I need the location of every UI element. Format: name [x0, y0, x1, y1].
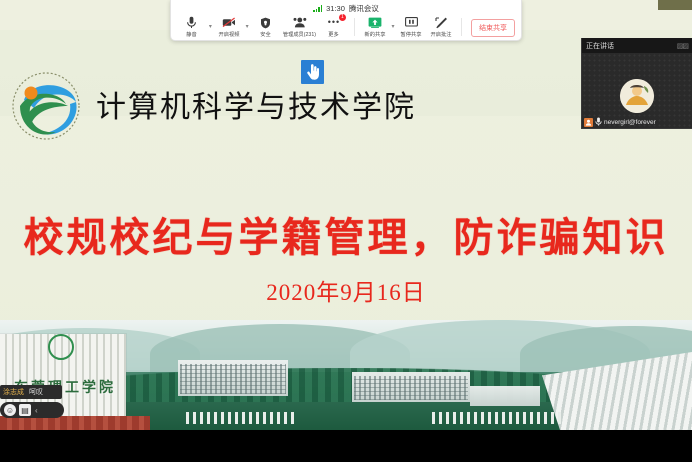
camera-off-icon	[222, 16, 236, 29]
annotation-overlay[interactable]: 涂志成 呵叹 ☺ ▤ ‹	[0, 385, 62, 418]
bottom-black-bar	[0, 430, 692, 462]
toolbar-label-more: 更多	[329, 30, 339, 38]
annotation-user-name: 涂志成	[3, 387, 24, 397]
annotate-pen-icon	[435, 16, 447, 29]
video-panel-body: nevergirl@forever	[582, 53, 692, 128]
collapse-chevron-icon[interactable]: ‹	[35, 406, 38, 415]
toolbar-label-new-share: 新的共享	[364, 30, 385, 38]
toolbar-label-members: 管理成员(231)	[283, 30, 316, 38]
toolbar-button-security[interactable]: 安全	[251, 16, 281, 38]
campus-photo: 东莞理工学院	[0, 320, 692, 430]
top-right-sliver	[658, 0, 692, 10]
chat-message-icon[interactable]: ▤	[19, 404, 31, 416]
microphone-icon	[186, 16, 197, 29]
toolbar-divider	[354, 18, 355, 36]
toolbar-divider	[461, 18, 462, 36]
microphone-icon	[595, 117, 602, 128]
toolbar-label-pause-share: 暂停共享	[401, 30, 422, 38]
screen-share-view: 计算机科学与技术学院 校规校纪与学籍管理，防诈骗知识 2020年9月16日	[0, 0, 692, 462]
speaking-status-label: 正在讲话	[586, 41, 614, 51]
toolbar-button-new-share[interactable]: 新的共享	[360, 16, 390, 38]
signal-bars-icon	[313, 5, 322, 12]
layout-toggle-icon[interactable]: ▨▨	[677, 42, 688, 50]
more-notification-badge: 1	[339, 14, 346, 21]
slide-date: 2020年9月16日	[0, 273, 692, 307]
campus-building-windows	[180, 364, 286, 394]
toolbar-label-video: 开启视频	[218, 30, 239, 38]
video-panel-header: 正在讲话 ▨▨	[582, 38, 692, 53]
toolbar-button-more[interactable]: ••• 1 更多	[319, 16, 349, 38]
shield-icon	[260, 16, 271, 29]
hand-pointer-icon	[301, 60, 324, 84]
gate-seal-icon	[48, 334, 74, 360]
department-title: 计算机科学与技术学院	[96, 82, 416, 126]
annotation-user-label: 涂志成 呵叹	[0, 385, 62, 399]
toolbar-button-members[interactable]: 管理成员(231)	[280, 16, 319, 38]
pause-share-icon	[405, 16, 418, 29]
toolbar-label-security: 安全	[260, 30, 270, 38]
video-panel-footer: nevergirl@forever	[582, 116, 692, 128]
meeting-toolbar[interactable]: 31:30 腾讯会议 静音 ▾ 开启视频 ▾	[170, 0, 522, 41]
chevron-down-icon-video[interactable]: ▾	[244, 23, 251, 30]
user-avatar-icon	[620, 79, 654, 113]
toolbar-label-annotate: 开启批注	[431, 30, 452, 38]
balustrade	[432, 412, 562, 424]
speaker-video-panel[interactable]: 正在讲话 ▨▨ nevergirl@foreve	[581, 38, 692, 129]
members-icon	[293, 16, 307, 29]
campus-building-windows	[354, 376, 468, 400]
meeting-app-name: 腾讯会议	[349, 3, 379, 14]
meeting-timer: 31:30	[326, 4, 345, 13]
emoji-icon[interactable]: ☺	[4, 404, 16, 416]
meeting-status-bar: 31:30 腾讯会议	[171, 0, 521, 15]
participant-name: nevergirl@forever	[604, 119, 656, 126]
campus-building	[470, 386, 540, 406]
college-leaf-logo	[10, 70, 88, 142]
toolbar-button-annotate[interactable]: 开启批注	[426, 16, 456, 38]
chevron-down-icon-mute[interactable]: ▾	[207, 23, 214, 30]
toolbar-button-pause-share[interactable]: 暂停共享	[397, 16, 427, 38]
toolbar-button-video[interactable]: 开启视频	[214, 16, 244, 38]
annotation-button-group[interactable]: ☺ ▤ ‹	[0, 402, 64, 418]
toolbar-label-mute: 静音	[187, 30, 197, 38]
toolbar-buttons-row[interactable]: 静音 ▾ 开启视频 ▾ 安全 管理成员(231)	[171, 15, 521, 41]
slide-main-title: 校规校纪与学籍管理，防诈骗知识	[0, 205, 692, 263]
balustrade	[186, 412, 296, 424]
toolbar-button-mute[interactable]: 静音	[177, 16, 207, 38]
annotation-action-label: 呵叹	[29, 387, 43, 397]
gate-base	[0, 416, 150, 430]
end-share-button[interactable]: 结束共享	[471, 19, 515, 37]
chevron-down-icon-share[interactable]: ▾	[390, 23, 397, 30]
participant-avatar-thumb	[584, 118, 593, 127]
share-screen-icon	[368, 16, 382, 29]
